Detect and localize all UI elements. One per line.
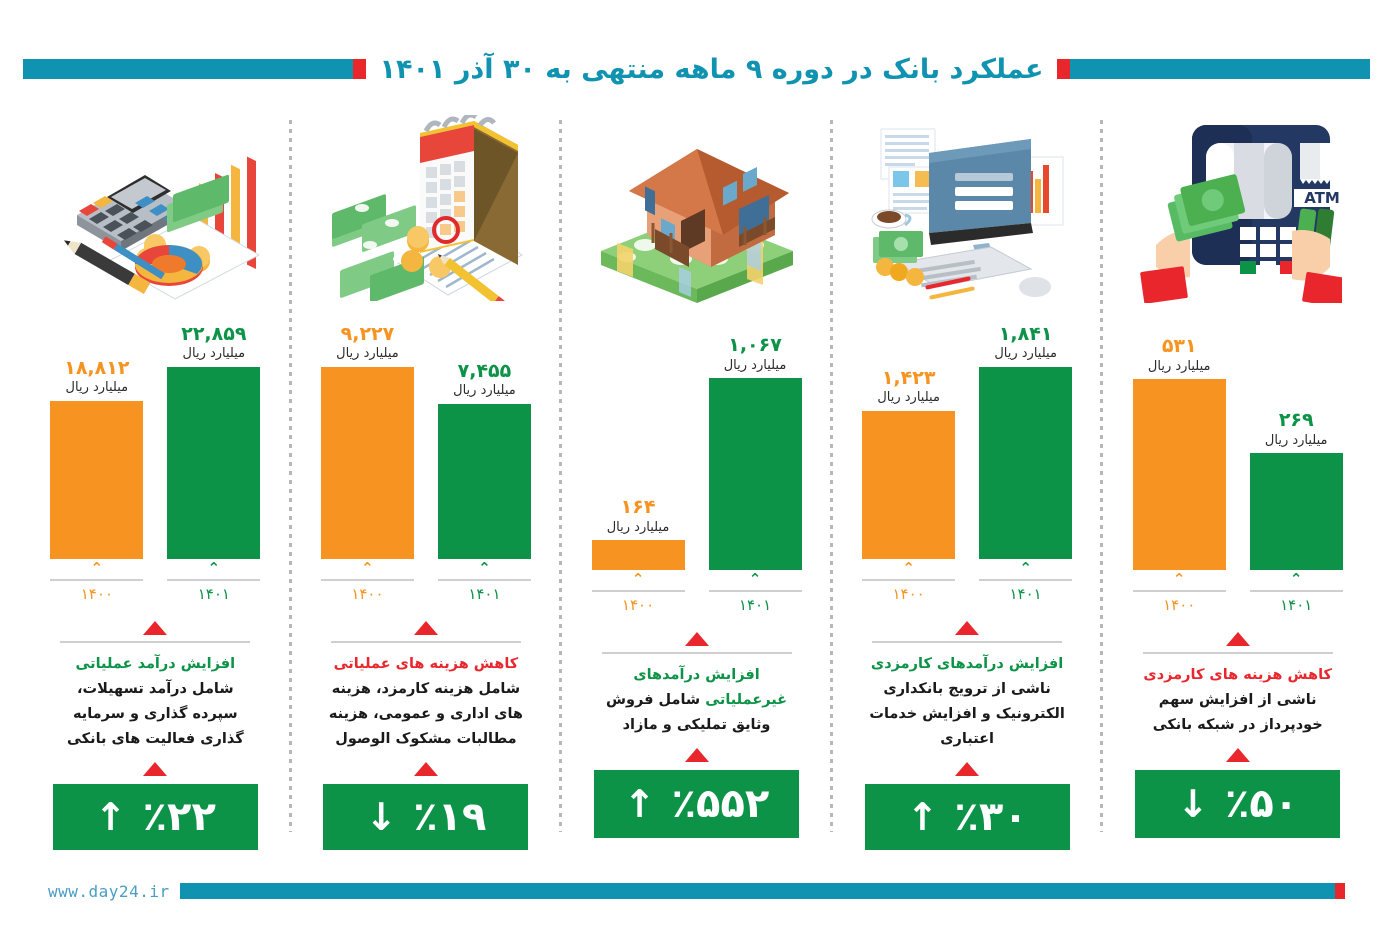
percent-badge: ٪۲۲ ↑ — [53, 784, 258, 850]
axis-year-current: ۱۴۰۱ — [468, 585, 500, 603]
axis-line — [979, 579, 1072, 581]
triangle-marker-icon — [414, 762, 438, 776]
chevron-up-icon: ⌃ — [902, 561, 915, 577]
percent-badge: ٪۵۰ ↓ — [1135, 770, 1340, 838]
panel-description: افزایش درآمدهای غیرعملیاتی شامل فروش وثا… — [594, 663, 799, 738]
bar-group-previous: ۱۶۴ میلیارد ریال — [591, 310, 686, 570]
header-tick-left — [353, 59, 366, 79]
bar-value-current: ۱,۰۶۷ — [728, 336, 782, 356]
axis-line — [438, 579, 531, 581]
chart-axis: ⌃ ۱۴۰۱ ⌃ ۱۴۰۰ — [1132, 572, 1344, 614]
triangle-marker-icon — [685, 632, 709, 646]
axis-cell-previous: ⌃ ۱۴۰۰ — [320, 561, 415, 603]
percent-value: ٪۵۰ — [1225, 784, 1298, 824]
axis-line — [50, 579, 143, 581]
bar-value-previous: ۱,۴۲۳ — [882, 369, 936, 389]
axis-year-current: ۱۴۰۱ — [739, 596, 771, 614]
description-divider — [331, 641, 521, 643]
metric-panel: ۲۲,۸۵۹ میلیارد ریال ۱۸,۸۱۲ میلیارد ریال … — [20, 110, 291, 850]
bar-chart: ۲۲,۸۵۹ میلیارد ریال ۱۸,۸۱۲ میلیارد ریال — [49, 305, 261, 559]
calendar-money-documents-icon — [291, 110, 562, 305]
bar-previous — [862, 411, 955, 559]
bar-unit-previous: میلیارد ریال — [1148, 357, 1211, 377]
chart-axis: ⌃ ۱۴۰۱ ⌃ ۱۴۰۰ — [320, 561, 532, 603]
arrow-up-icon: ↑ — [907, 798, 939, 836]
axis-year-previous: ۱۴۰۰ — [1163, 596, 1195, 614]
axis-cell-current: ⌃ ۱۴۰۱ — [437, 561, 532, 603]
bar-chart: ۱,۰۶۷ میلیارد ریال ۱۶۴ میلیارد ریال — [591, 310, 803, 570]
axis-year-previous: ۱۴۰۰ — [893, 585, 925, 603]
bar-chart: ۲۶۹ میلیارد ریال ۵۳۱ میلیارد ریال — [1132, 310, 1344, 570]
axis-line — [592, 590, 685, 592]
chevron-up-icon: ⌃ — [208, 561, 221, 577]
bar-unit-current: میلیارد ریال — [1265, 431, 1328, 451]
bar-current — [1250, 453, 1343, 570]
bar-previous — [1133, 379, 1226, 570]
triangle-marker-icon — [685, 748, 709, 762]
footer-bar — [180, 883, 1335, 899]
bar-unit-current: میلیارد ریال — [453, 381, 516, 401]
bar-unit-previous: میلیارد ریال — [877, 388, 940, 408]
bar-group-current: ۱,۸۴۱ میلیارد ریال — [978, 305, 1073, 559]
atm-cash-withdrawal-icon: ATM — [1102, 110, 1373, 310]
axis-year-current: ۱۴۰۱ — [1280, 596, 1312, 614]
triangle-marker-icon — [955, 621, 979, 635]
description-divider — [602, 652, 792, 654]
chart-axis: ⌃ ۱۴۰۱ ⌃ ۱۴۰۰ — [591, 572, 803, 614]
metric-panel: ATM — [1102, 110, 1373, 850]
chevron-up-icon: ⌃ — [749, 572, 762, 588]
axis-line — [167, 579, 260, 581]
description-rest: ناشی از افزایش سهم خودپرداز در شبکه بانک… — [1153, 692, 1323, 733]
triangle-marker-icon — [955, 762, 979, 776]
arrow-down-icon: ↓ — [365, 798, 397, 836]
bar-chart: ۷,۴۵۵ میلیارد ریال ۹,۲۲۷ میلیارد ریال — [320, 305, 532, 559]
bar-group-current: ۲۲,۸۵۹ میلیارد ریال — [166, 305, 261, 559]
triangle-marker-icon — [1226, 748, 1250, 762]
axis-cell-previous: ⌃ ۱۴۰۰ — [1132, 572, 1227, 614]
header-bar-left — [23, 59, 353, 79]
axis-year-current: ۱۴۰۱ — [1010, 585, 1042, 603]
percent-value: ٪۱۹ — [413, 797, 486, 837]
bar-value-previous: ۹,۲۲۷ — [341, 325, 395, 345]
percent-value: ٪۳۰ — [954, 797, 1027, 837]
percent-value: ٪۲۲ — [143, 797, 216, 837]
bar-previous — [321, 367, 414, 559]
axis-line — [1133, 590, 1226, 592]
bar-unit-previous: میلیارد ریال — [607, 518, 670, 538]
panel-description: کاهش هزینه های کارمزدی ناشی از افزایش سه… — [1135, 663, 1340, 738]
bar-current — [709, 378, 802, 570]
percent-value: ٪۵۵۲ — [672, 784, 770, 824]
bar-group-previous: ۹,۲۲۷ میلیارد ریال — [320, 305, 415, 559]
bar-value-current: ۲۲,۸۵۹ — [181, 325, 246, 345]
description-divider — [60, 641, 250, 643]
chart-axis: ⌃ ۱۴۰۱ ⌃ ۱۴۰۰ — [861, 561, 1073, 603]
description-rest: شامل هزینه کارمزد، هزینه های اداری و عمو… — [329, 681, 523, 747]
axis-cell-previous: ⌃ ۱۴۰۰ — [861, 561, 956, 603]
page-title: عملکرد بانک در دوره ۹ ماهه منتهی به ۳۰ آ… — [366, 56, 1058, 83]
axis-year-previous: ۱۴۰۰ — [351, 585, 383, 603]
axis-year-current: ۱۴۰۱ — [198, 585, 230, 603]
header-banner: عملکرد بانک در دوره ۹ ماهه منتهی به ۳۰ آ… — [0, 46, 1393, 92]
footer-tick — [1335, 883, 1345, 899]
percent-badge: ٪۵۵۲ ↑ — [594, 770, 799, 838]
header-tick-right — [1057, 59, 1070, 79]
bar-chart: ۱,۸۴۱ میلیارد ریال ۱,۴۲۳ میلیارد ریال — [861, 305, 1073, 559]
triangle-marker-icon — [414, 621, 438, 635]
bar-current — [167, 367, 260, 559]
bar-value-current: ۲۶۹ — [1279, 411, 1314, 431]
chevron-up-icon: ⌃ — [91, 561, 104, 577]
percent-badge: ٪۳۰ ↑ — [865, 784, 1070, 850]
axis-line — [321, 579, 414, 581]
bar-unit-previous: میلیارد ریال — [336, 344, 399, 364]
description-lead: افزایش درآمد عملیاتی — [76, 656, 236, 672]
bar-value-current: ۷,۴۵۵ — [458, 362, 512, 382]
axis-year-previous: ۱۴۰۰ — [622, 596, 654, 614]
metric-panel: ۱,۰۶۷ میلیارد ریال ۱۶۴ میلیارد ریال ⌃ ۱۴… — [561, 110, 832, 850]
bar-group-current: ۲۶۹ میلیارد ریال — [1249, 310, 1344, 570]
bar-unit-current: میلیارد ریال — [183, 344, 246, 364]
triangle-marker-icon — [143, 762, 167, 776]
axis-cell-current: ⌃ ۱۴۰۱ — [708, 572, 803, 614]
arrow-down-icon: ↓ — [1177, 785, 1209, 823]
bar-unit-current: میلیارد ریال — [724, 356, 787, 376]
panel-description: افزایش درآمد عملیاتی شامل درآمد تسهیلات،… — [53, 652, 258, 752]
description-lead: کاهش هزینه های عملیاتی — [334, 656, 519, 672]
axis-cell-previous: ⌃ ۱۴۰۰ — [49, 561, 144, 603]
chevron-up-icon: ⌃ — [1019, 561, 1032, 577]
chevron-up-icon: ⌃ — [1173, 572, 1186, 588]
panels-container: ATM — [20, 110, 1373, 850]
online-banking-desktop-icon — [832, 110, 1103, 305]
axis-line — [1250, 590, 1343, 592]
bar-value-current: ۱,۸۴۱ — [999, 325, 1053, 345]
bar-previous — [50, 401, 143, 559]
svg-text:ATM: ATM — [1304, 189, 1340, 207]
bar-unit-previous: میلیارد ریال — [66, 378, 129, 398]
calculator-growth-chart-icon — [20, 110, 291, 305]
axis-cell-current: ⌃ ۱۴۰۱ — [166, 561, 261, 603]
axis-cell-current: ⌃ ۱۴۰۱ — [978, 561, 1073, 603]
description-lead: افزایش درآمدهای کارمزدی — [871, 656, 1063, 672]
bar-group-previous: ۵۳۱ میلیارد ریال — [1132, 310, 1227, 570]
chart-axis: ⌃ ۱۴۰۱ ⌃ ۱۴۰۰ — [49, 561, 261, 603]
arrow-up-icon: ↑ — [95, 798, 127, 836]
bar-value-previous: ۱۸,۸۱۲ — [64, 359, 129, 379]
panel-description: کاهش هزینه های عملیاتی شامل هزینه کارمزد… — [323, 652, 528, 752]
metric-panel: ۱,۸۴۱ میلیارد ریال ۱,۴۲۳ میلیارد ریال ⌃ … — [832, 110, 1103, 850]
bar-previous — [592, 540, 685, 570]
axis-cell-current: ⌃ ۱۴۰۱ — [1249, 572, 1344, 614]
bar-group-current: ۱,۰۶۷ میلیارد ریال — [708, 310, 803, 570]
description-rest: شامل درآمد تسهیلات، سپرده گذاری و سرمایه… — [67, 681, 244, 747]
triangle-marker-icon — [1226, 632, 1250, 646]
bar-value-previous: ۵۳۱ — [1162, 337, 1197, 357]
metric-panel: ۷,۴۵۵ میلیارد ریال ۹,۲۲۷ میلیارد ریال ⌃ … — [291, 110, 562, 850]
description-divider — [872, 641, 1062, 643]
description-divider — [1143, 652, 1333, 654]
axis-line — [709, 590, 802, 592]
chevron-up-icon: ⌃ — [1290, 572, 1303, 588]
bar-group-previous: ۱,۴۲۳ میلیارد ریال — [861, 305, 956, 559]
bar-current — [438, 404, 531, 559]
bar-group-previous: ۱۸,۸۱۲ میلیارد ریال — [49, 305, 144, 559]
bar-unit-current: میلیارد ریال — [994, 344, 1057, 364]
description-rest: ناشی از ترویج بانکداری الکترونیک و افزای… — [869, 681, 1064, 747]
axis-cell-previous: ⌃ ۱۴۰۰ — [591, 572, 686, 614]
bar-group-current: ۷,۴۵۵ میلیارد ریال — [437, 305, 532, 559]
chevron-up-icon: ⌃ — [361, 561, 374, 577]
panel-description: افزایش درآمدهای کارمزدی ناشی از ترویج با… — [865, 652, 1070, 752]
website-url[interactable]: www.day24.ir — [48, 882, 170, 901]
bar-value-previous: ۱۶۴ — [621, 498, 656, 518]
triangle-marker-icon — [143, 621, 167, 635]
chevron-up-icon: ⌃ — [632, 572, 645, 588]
axis-line — [862, 579, 955, 581]
header-bar-right — [1070, 59, 1370, 79]
bar-current — [979, 367, 1072, 559]
axis-year-previous: ۱۴۰۰ — [81, 585, 113, 603]
footer: www.day24.ir — [0, 880, 1393, 902]
chevron-up-icon: ⌃ — [478, 561, 491, 577]
description-lead: کاهش هزینه های کارمزدی — [1143, 667, 1332, 683]
arrow-up-icon: ↑ — [624, 785, 656, 823]
percent-badge: ٪۱۹ ↓ — [323, 784, 528, 850]
house-on-money-icon — [561, 110, 832, 310]
